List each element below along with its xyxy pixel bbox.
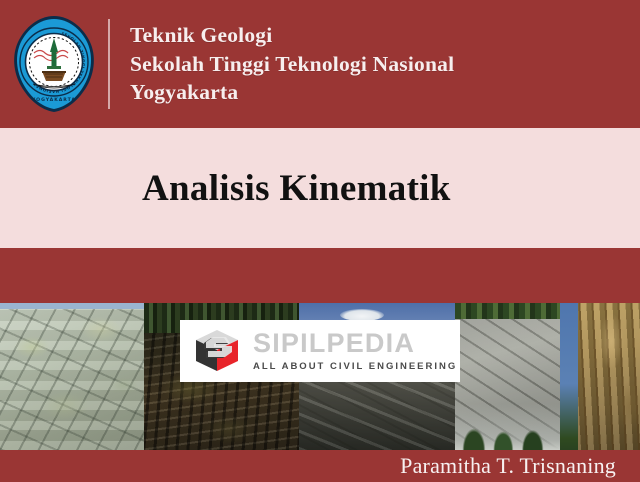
slide-header: SEKOLAH TINGGI TEKNOLOGI NASIONAL YOGYAK… <box>0 0 640 128</box>
slide-footer: Paramitha T. Trisnaning <box>0 450 640 482</box>
presentation-slide: SEKOLAH TINGGI TEKNOLOGI NASIONAL YOGYAK… <box>0 0 640 482</box>
sipilpedia-cube-logo-icon <box>193 328 241 374</box>
title-band: Analisis Kinematik <box>0 128 640 248</box>
mid-accent-band <box>0 248 640 303</box>
sipilpedia-watermark: SIPILPEDIA ALL ABOUT CIVIL ENGINEERING <box>180 320 460 382</box>
svg-text:YOGYAKARTA: YOGYAKARTA <box>31 97 76 103</box>
photo-panel-grey-rock-face-with-conifers <box>455 303 560 450</box>
watermark-subtitle: ALL ABOUT CIVIL ENGINEERING <box>253 362 457 372</box>
author-name: Paramitha T. Trisnaning <box>400 453 640 479</box>
photo-panel-jointed-grey-rock-outcrop <box>0 303 144 450</box>
header-divider <box>108 19 110 109</box>
institution-name-block: Teknik Geologi Sekolah Tinggi Teknologi … <box>130 21 454 107</box>
header-line-3: Yogyakarta <box>130 78 454 107</box>
photo-panel-tan-columnar-rock-face <box>560 303 640 450</box>
institution-logo: SEKOLAH TINGGI TEKNOLOGI NASIONAL YOGYAK… <box>0 0 108 128</box>
header-line-1: Teknik Geologi <box>130 21 454 50</box>
header-line-2: Sekolah Tinggi Teknologi Nasional <box>130 50 454 79</box>
sttnas-university-crest-icon: SEKOLAH TINGGI TEKNOLOGI NASIONAL YOGYAK… <box>11 14 97 114</box>
watermark-title: SIPILPEDIA <box>253 330 457 357</box>
slide-title: Analisis Kinematik <box>142 167 451 210</box>
